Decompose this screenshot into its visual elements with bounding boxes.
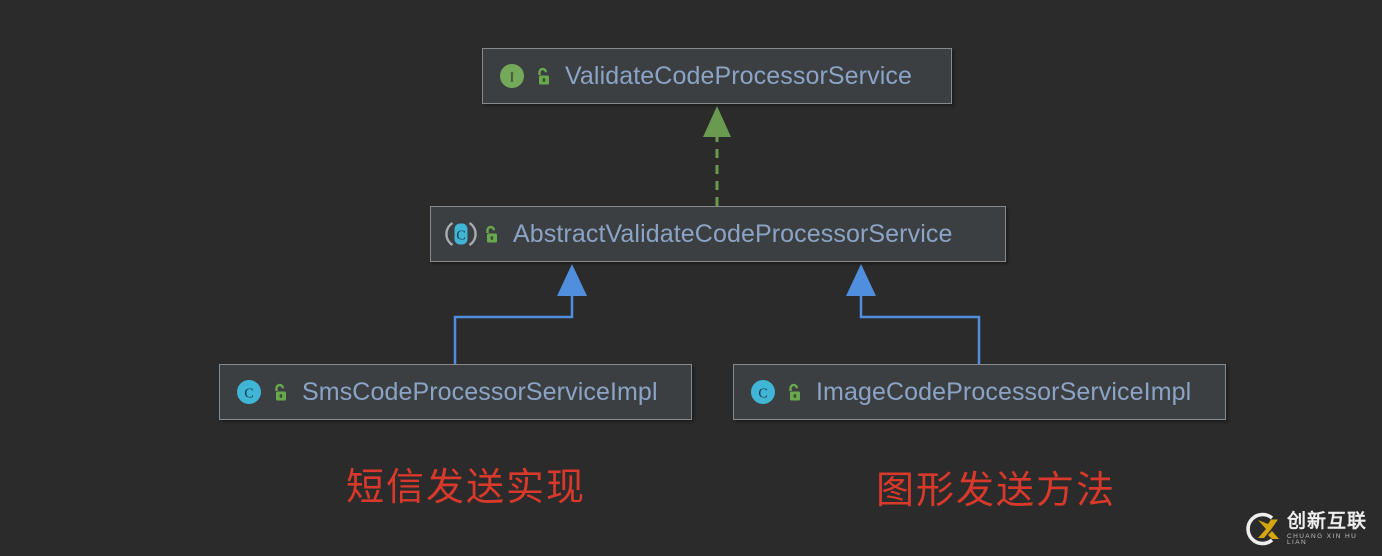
public-unlocked-icon [784,382,804,404]
uml-node-validate-code-processor-service[interactable]: I ValidateCodeProcessorService [482,48,952,104]
watermark-name-cn: 创新互联 [1287,512,1378,531]
uml-node-sms-code-processor-service-impl[interactable]: C SmsCodeProcessorServiceImpl [219,364,692,420]
class-icon: C [234,377,264,407]
watermark-text: 创新互联 CHUANG XIN HU LIAN [1287,512,1378,547]
svg-text:C: C [244,387,253,402]
uml-node-image-code-processor-service-impl[interactable]: C ImageCodeProcessorServiceImpl [733,364,1226,420]
svg-text:I: I [510,71,515,86]
interface-icon: I [497,61,527,91]
public-unlocked-icon [270,382,290,404]
watermark-name-pinyin: CHUANG XIN HU LIAN [1287,534,1378,547]
uml-node-label: AbstractValidateCodeProcessorService [513,220,952,249]
uml-node-abstract-validate-code-processor-service[interactable]: C AbstractValidateCodeProcessorService [430,206,1006,262]
svg-text:C: C [456,229,465,244]
edge-realization [703,106,731,206]
svg-text:C: C [758,387,767,402]
watermark: 创新互联 CHUANG XIN HU LIAN [1242,505,1378,553]
annotation-image: 图形发送方法 [876,459,1116,514]
edge-generalization-image [846,264,979,364]
abstract-class-icon: C [445,219,475,249]
uml-node-label: ImageCodeProcessorServiceImpl [816,378,1191,407]
cx-logo-icon [1242,509,1282,549]
public-unlocked-icon [533,66,553,88]
uml-node-label: SmsCodeProcessorServiceImpl [302,378,658,407]
annotation-sms: 短信发送实现 [346,456,586,511]
class-icon: C [748,377,778,407]
public-unlocked-icon [481,224,501,246]
uml-node-label: ValidateCodeProcessorService [565,62,912,91]
diagram-canvas: interface (dashed green, upward) --> abs… [0,0,1382,556]
edge-generalization-sms [455,264,587,364]
